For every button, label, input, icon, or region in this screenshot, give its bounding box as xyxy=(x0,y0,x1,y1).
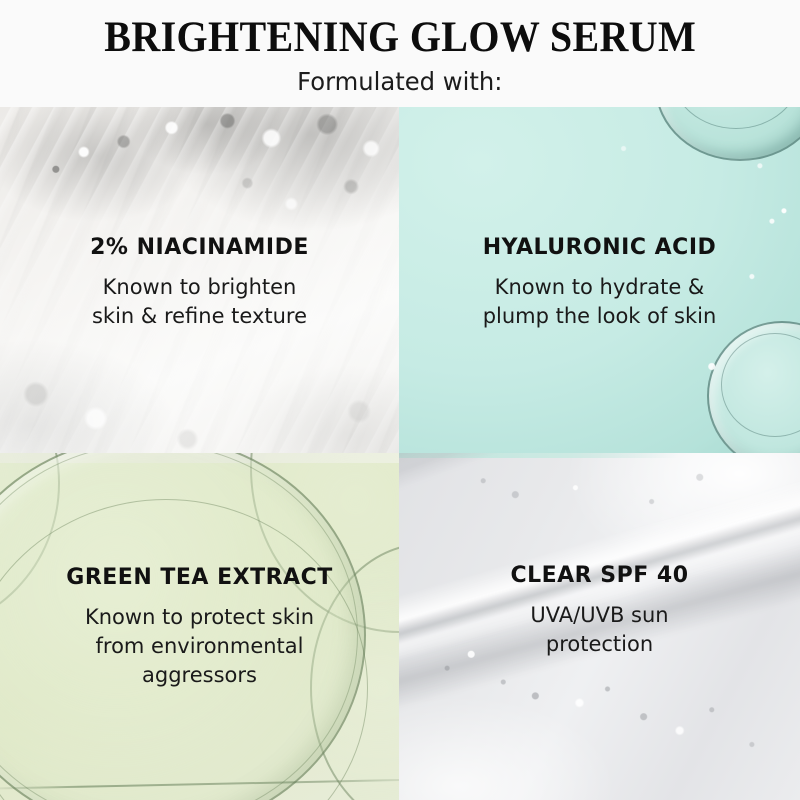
product-benefits-infographic: BRIGHTENING GLOW SERUM Formulated with: … xyxy=(0,0,800,800)
spf-copy: CLEAR SPF 40 UVA/UVB sun protection xyxy=(399,563,800,659)
page-title: BRIGHTENING GLOW SERUM xyxy=(104,14,696,62)
hyaluronic-heading: HYALURONIC ACID xyxy=(483,235,717,261)
niacinamide-body: Known to brighten skin & refine texture xyxy=(92,273,307,331)
hyaluronic-copy: HYALURONIC ACID Known to hydrate & plump… xyxy=(399,235,800,331)
ingredient-tile-niacinamide: 2% NIACINAMIDE Known to brighten skin & … xyxy=(0,107,399,453)
green-tea-body: Known to protect skin from environmental… xyxy=(85,603,314,690)
ingredient-tile-green-tea-extract: GREEN TEA EXTRACT Known to protect skin … xyxy=(0,453,399,800)
spf-heading: CLEAR SPF 40 xyxy=(510,563,688,589)
ingredient-grid: 2% NIACINAMIDE Known to brighten skin & … xyxy=(0,107,800,800)
green-tea-heading: GREEN TEA EXTRACT xyxy=(66,565,332,591)
spf-body: UVA/UVB sun protection xyxy=(530,601,668,659)
niacinamide-copy: 2% NIACINAMIDE Known to brighten skin & … xyxy=(0,235,399,331)
niacinamide-heading: 2% NIACINAMIDE xyxy=(90,235,309,261)
ingredient-tile-clear-spf-40: CLEAR SPF 40 UVA/UVB sun protection xyxy=(399,453,800,800)
ingredient-tile-hyaluronic-acid: HYALURONIC ACID Known to hydrate & plump… xyxy=(399,107,800,453)
green-tea-copy: GREEN TEA EXTRACT Known to protect skin … xyxy=(0,565,399,690)
hyaluronic-body: Known to hydrate & plump the look of ski… xyxy=(483,273,717,331)
page-subtitle: Formulated with: xyxy=(297,67,502,97)
header-band: BRIGHTENING GLOW SERUM Formulated with: xyxy=(0,0,800,107)
